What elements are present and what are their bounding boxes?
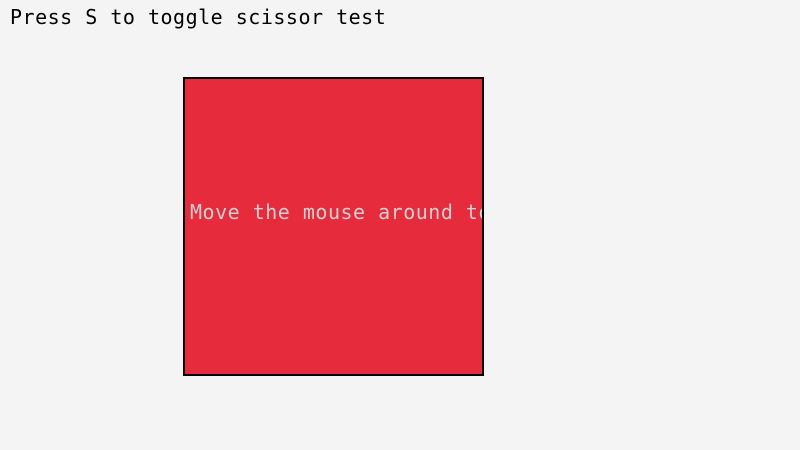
scissor-rectangle[interactable]: Move the mouse around to reveal the text [183, 77, 484, 376]
scissor-clipped-text: Move the mouse around to reveal the text [190, 200, 484, 224]
app-canvas[interactable]: Press S to toggle scissor test Move the … [0, 0, 800, 450]
scissor-toggle-hint: Press S to toggle scissor test [10, 5, 386, 29]
